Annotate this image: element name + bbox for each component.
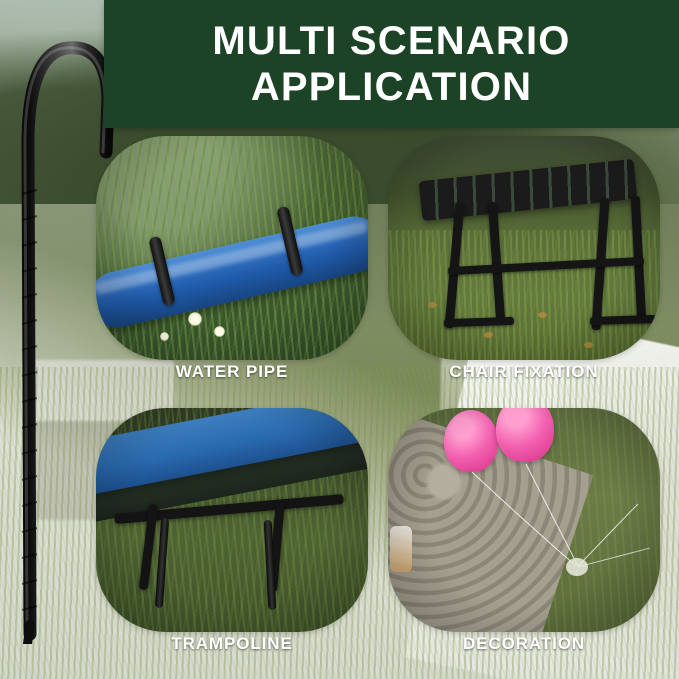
flower bbox=[214, 326, 225, 337]
grass-texture bbox=[388, 230, 660, 360]
scenario-card-trampoline: TRAMPOLINE bbox=[96, 408, 368, 670]
flower bbox=[160, 332, 169, 341]
caption-water-pipe: WATER PIPE bbox=[96, 362, 368, 382]
fallen-leaf bbox=[484, 332, 493, 338]
flower bbox=[188, 312, 202, 326]
fallen-leaf bbox=[584, 342, 593, 348]
product-infographic: MULTI SCENARIO APPLICATION WATER PIPE bbox=[0, 0, 679, 679]
scenario-card-grid: WATER PIPE CHAIR FIXATION bbox=[96, 136, 668, 672]
caption-trampoline: TRAMPOLINE bbox=[96, 634, 368, 654]
caption-chair-fixation: CHAIR FIXATION bbox=[388, 362, 660, 382]
fallen-leaf bbox=[428, 302, 437, 308]
title-banner: MULTI SCENARIO APPLICATION bbox=[104, 0, 679, 128]
photo-water-pipe bbox=[96, 136, 368, 360]
title-line-1: MULTI SCENARIO bbox=[212, 18, 570, 64]
scenario-card-water-pipe: WATER PIPE bbox=[96, 136, 368, 398]
balloon-strings bbox=[388, 408, 660, 632]
photo-trampoline bbox=[96, 408, 368, 632]
caption-decoration: DECORATION bbox=[388, 634, 660, 654]
scenario-card-chair-fixation: CHAIR FIXATION bbox=[388, 136, 660, 398]
scenario-card-decoration: DECORATION bbox=[388, 408, 660, 670]
photo-chair-fixation bbox=[388, 136, 660, 360]
title-line-2: APPLICATION bbox=[251, 64, 532, 110]
ground-anchor-knot bbox=[566, 558, 588, 576]
fallen-leaf bbox=[538, 312, 547, 318]
photo-decoration bbox=[388, 408, 660, 632]
